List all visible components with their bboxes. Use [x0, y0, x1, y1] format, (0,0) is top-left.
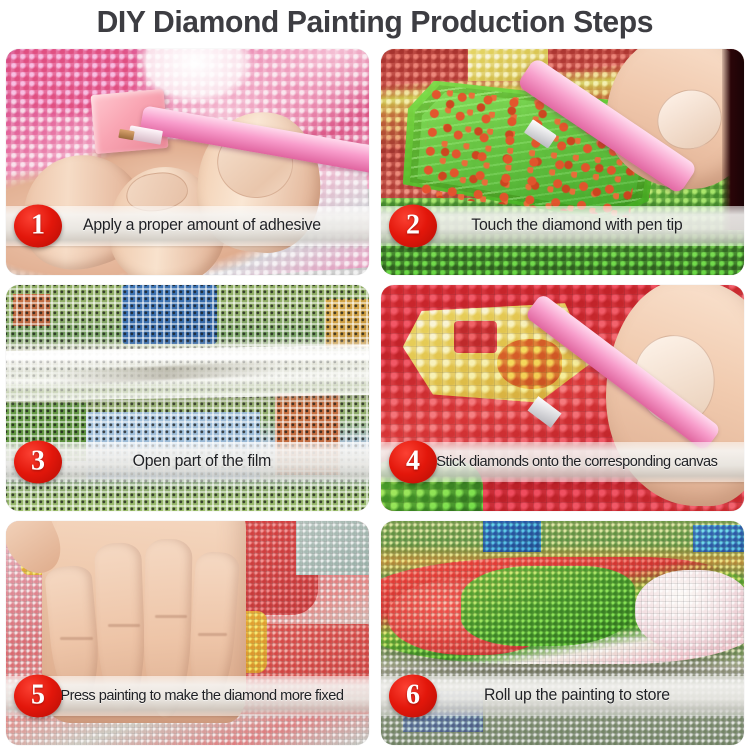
step-cell-5: 5 Press painting to make the diamond mor… — [0, 516, 375, 750]
knuckle-crease-2 — [108, 624, 141, 627]
steps-grid: 1 Apply a proper amount of adhesive — [0, 44, 750, 750]
step-number-badge-4: 4 — [389, 440, 437, 483]
step-panel-1[interactable]: 1 Apply a proper amount of adhesive — [6, 49, 369, 275]
step-number-2: 2 — [406, 212, 420, 240]
knuckle-crease-4 — [198, 633, 227, 636]
step-caption-text-2: Touch the diamond with pen tip — [388, 216, 736, 235]
step-panel-6[interactable]: 6 Roll up the painting to store — [381, 521, 744, 745]
step-number-badge-5: 5 — [14, 674, 62, 717]
step-caption-text-6: Roll up the painting to store — [388, 686, 736, 705]
step-panel-5[interactable]: 5 Press painting to make the diamond mor… — [6, 521, 369, 745]
step-number-6: 6 — [406, 682, 420, 710]
step-cell-3: 3 Open part of the film — [0, 280, 375, 516]
step-panel-4[interactable]: 4 Stick diamonds onto the corresponding … — [381, 285, 744, 511]
step-caption-bar-3: 3 Open part of the film — [6, 442, 369, 482]
page-header: DIY Diamond Painting Production Steps — [0, 0, 750, 44]
step-caption-text-3: Open part of the film — [13, 452, 361, 471]
step-cell-2: 2 Touch the diamond with pen tip — [375, 44, 750, 280]
step-cell-4: 4 Stick diamonds onto the corresponding … — [375, 280, 750, 516]
step-caption-bar-1: 1 Apply a proper amount of adhesive — [6, 206, 369, 246]
step-number-4: 4 — [406, 448, 420, 476]
step-number-badge-2: 2 — [389, 204, 437, 247]
step-cell-6: 6 Roll up the painting to store — [375, 516, 750, 750]
film-highlight — [6, 353, 369, 360]
step-caption-bar-6: 6 Roll up the painting to store — [381, 676, 744, 716]
step-panel-2[interactable]: 2 Touch the diamond with pen tip — [381, 49, 744, 275]
step-caption-bar-5: 5 Press painting to make the diamond mor… — [6, 676, 369, 716]
infographic-page: DIY Diamond Painting Production Steps — [0, 0, 750, 750]
step-cell-1: 1 Apply a proper amount of adhesive — [0, 44, 375, 280]
step-panel-3[interactable]: 3 Open part of the film — [6, 285, 369, 511]
step-caption-text-4: Stick diamonds onto the corresponding ca… — [388, 453, 736, 470]
dark-right-edge — [722, 49, 744, 230]
step-number-badge-6: 6 — [389, 674, 437, 717]
step-number-5: 5 — [31, 682, 45, 710]
page-title: DIY Diamond Painting Production Steps — [97, 4, 653, 40]
knuckle-crease-3 — [155, 615, 188, 618]
step-caption-text-1: Apply a proper amount of adhesive — [13, 216, 361, 235]
step-number-badge-1: 1 — [14, 204, 62, 247]
step-caption-text-5: Press painting to make the diamond more … — [13, 687, 361, 704]
step-number-1: 1 — [31, 212, 45, 240]
step-number-3: 3 — [31, 448, 45, 476]
step-number-badge-3: 3 — [14, 440, 62, 483]
step-caption-bar-4: 4 Stick diamonds onto the corresponding … — [381, 442, 744, 482]
step-caption-bar-2: 2 Touch the diamond with pen tip — [381, 206, 744, 246]
